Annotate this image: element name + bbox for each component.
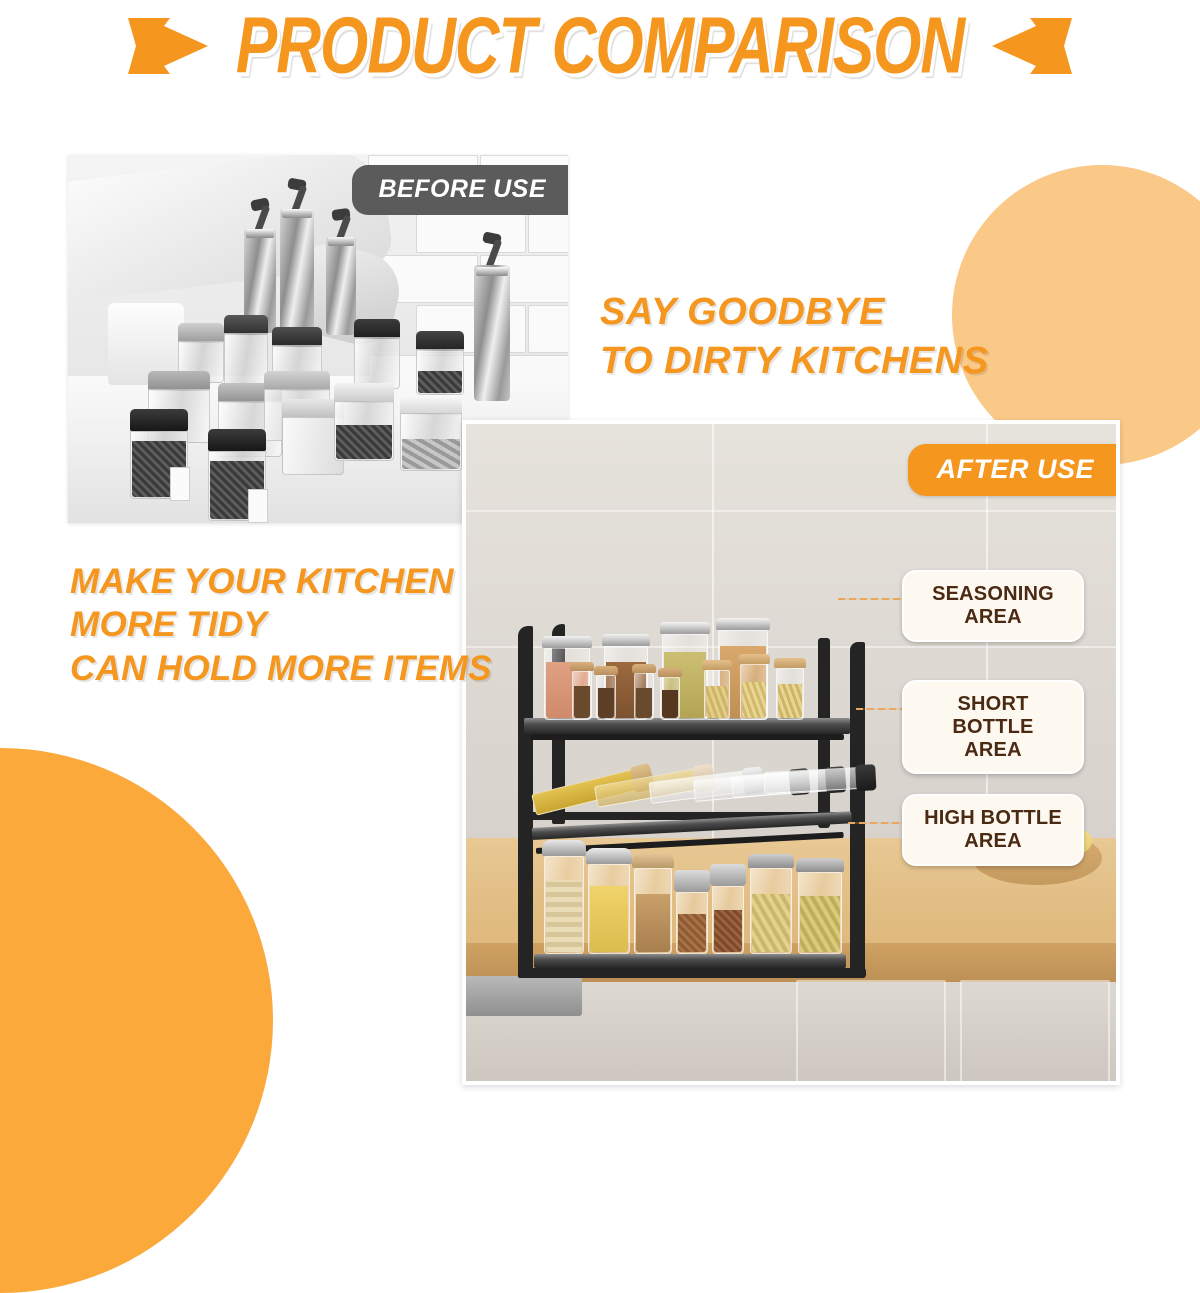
high-bottle: [750, 854, 792, 954]
decorative-circle-bottom-left: [0, 748, 273, 1293]
callout-high-bottle-line-2: AREA: [918, 830, 1068, 853]
short-bottle: [763, 764, 874, 798]
triangle-right-icon: [124, 16, 210, 76]
spice-rack: [518, 602, 908, 1002]
callout-seasoning-line-2: AREA: [918, 606, 1068, 629]
callout-seasoning-line-1: SEASONING: [918, 583, 1068, 606]
callout-seasoning-area: SEASONING AREA: [902, 570, 1084, 642]
spice-bottle: [634, 664, 654, 720]
headline-left-line-3: CAN HOLD MORE ITEMS: [70, 647, 492, 690]
high-bottle: [544, 840, 584, 954]
high-bottle: [798, 858, 842, 954]
callout-short-bottle-area: SHORT BOTTLE AREA: [902, 680, 1084, 774]
high-bottle: [634, 854, 672, 954]
spice-bottle: [572, 662, 592, 720]
headline-left-line-2: MORE TIDY: [70, 603, 492, 646]
triangle-left-icon: [990, 16, 1076, 76]
headline-say-goodbye: SAY GOODBYE TO DIRTY KITCHENS: [600, 288, 989, 385]
pasta-jar: [704, 660, 730, 720]
before-use-badge: BEFORE USE: [352, 165, 568, 215]
pasta-jar: [740, 654, 768, 720]
leader-line-seasoning: [838, 598, 906, 600]
spice-bottle: [660, 668, 680, 720]
headline-right-line-2: TO DIRTY KITCHENS: [600, 337, 989, 386]
headline-right-line-1: SAY GOODBYE: [600, 288, 989, 337]
headline-make-your-kitchen: MAKE YOUR KITCHEN MORE TIDY CAN HOLD MOR…: [70, 560, 492, 690]
high-bottle: [676, 870, 708, 954]
page-title: PRODUCT COMPARISON: [236, 1, 964, 92]
after-use-badge: AFTER USE: [908, 444, 1116, 496]
callout-short-bottle-line-1: SHORT BOTTLE: [918, 693, 1068, 739]
callout-short-bottle-line-2: AREA: [918, 739, 1068, 762]
headline-left-line-1: MAKE YOUR KITCHEN: [70, 560, 492, 603]
callout-high-bottle-line-1: HIGH BOTTLE: [918, 807, 1068, 830]
spice-bottle: [596, 666, 616, 720]
page-header: PRODUCT COMPARISON: [0, 0, 1200, 92]
callout-high-bottle-area: HIGH BOTTLE AREA: [902, 794, 1084, 866]
high-bottle: [712, 864, 744, 954]
pasta-jar: [776, 658, 804, 720]
high-bottle: [588, 848, 630, 954]
leader-line-short-bottle: [856, 708, 906, 710]
leader-line-high-bottle: [848, 822, 906, 824]
